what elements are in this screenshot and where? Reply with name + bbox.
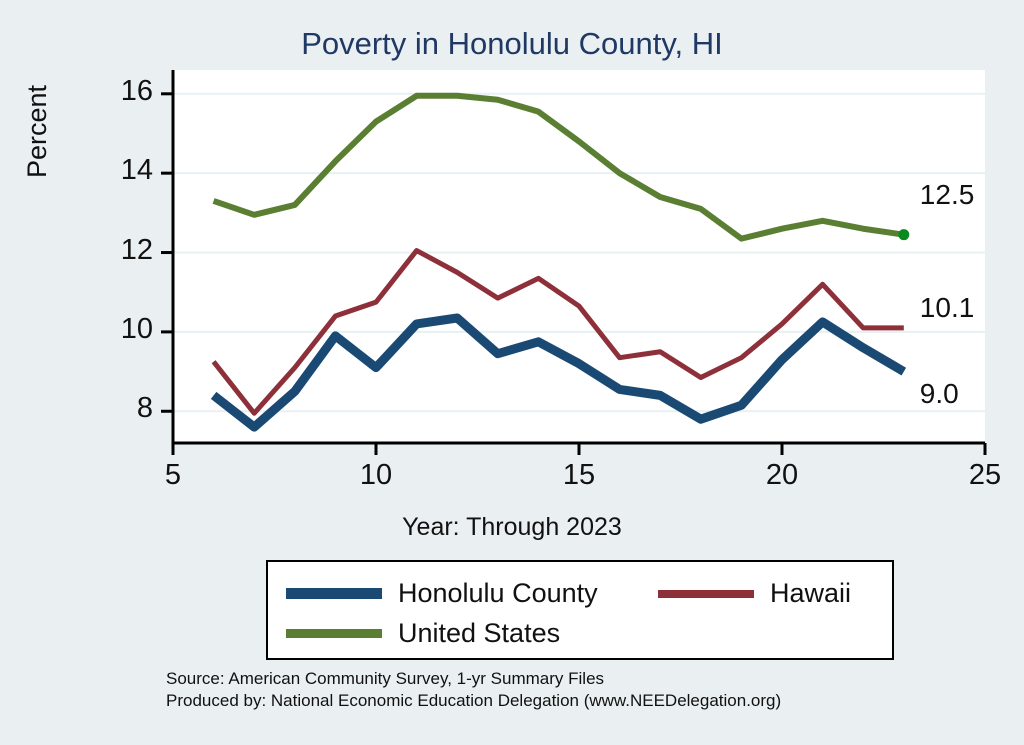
- legend-entry-2: United States: [286, 620, 560, 647]
- chart-footer: Source: American Community Survey, 1-yr …: [166, 668, 781, 713]
- end-label-hawaii: 10.1: [920, 292, 975, 324]
- x-tick-label-20: 20: [747, 459, 817, 492]
- legend-swatch-honolulu-county: [286, 588, 382, 599]
- y-tick-label-16: 16: [93, 75, 153, 108]
- poverty-line-chart: Poverty in Honolulu County, HI Percent 8…: [0, 0, 1024, 745]
- x-tick-label-10: 10: [341, 459, 411, 492]
- end-label-honolulu-county: 9.0: [920, 378, 959, 410]
- legend-swatch-united-states: [286, 629, 382, 638]
- legend-label-united-states: United States: [398, 620, 560, 647]
- y-tick-label-8: 8: [93, 392, 153, 425]
- x-axis-title: Year: Through 2023: [0, 513, 1024, 542]
- series-end-marker-united-states: [898, 229, 909, 240]
- y-tick-label-12: 12: [93, 234, 153, 267]
- footer-produced-line: Produced by: National Economic Education…: [166, 690, 781, 712]
- x-tick-label-25: 25: [950, 459, 1020, 492]
- legend-label-hawaii: Hawaii: [770, 580, 851, 607]
- x-tick-label-15: 15: [544, 459, 614, 492]
- y-tick-label-10: 10: [93, 313, 153, 346]
- footer-source-line: Source: American Community Survey, 1-yr …: [166, 668, 781, 690]
- y-tick-label-14: 14: [93, 154, 153, 187]
- legend-label-honolulu-county: Honolulu County: [398, 580, 598, 607]
- end-label-united-states: 12.5: [920, 179, 975, 211]
- chart-legend: Honolulu County Hawaii United States: [266, 560, 894, 660]
- legend-entry-1: Hawaii: [658, 580, 851, 607]
- legend-swatch-hawaii: [658, 590, 754, 598]
- legend-entry-0: Honolulu County: [286, 580, 598, 607]
- x-tick-label-5: 5: [138, 459, 208, 492]
